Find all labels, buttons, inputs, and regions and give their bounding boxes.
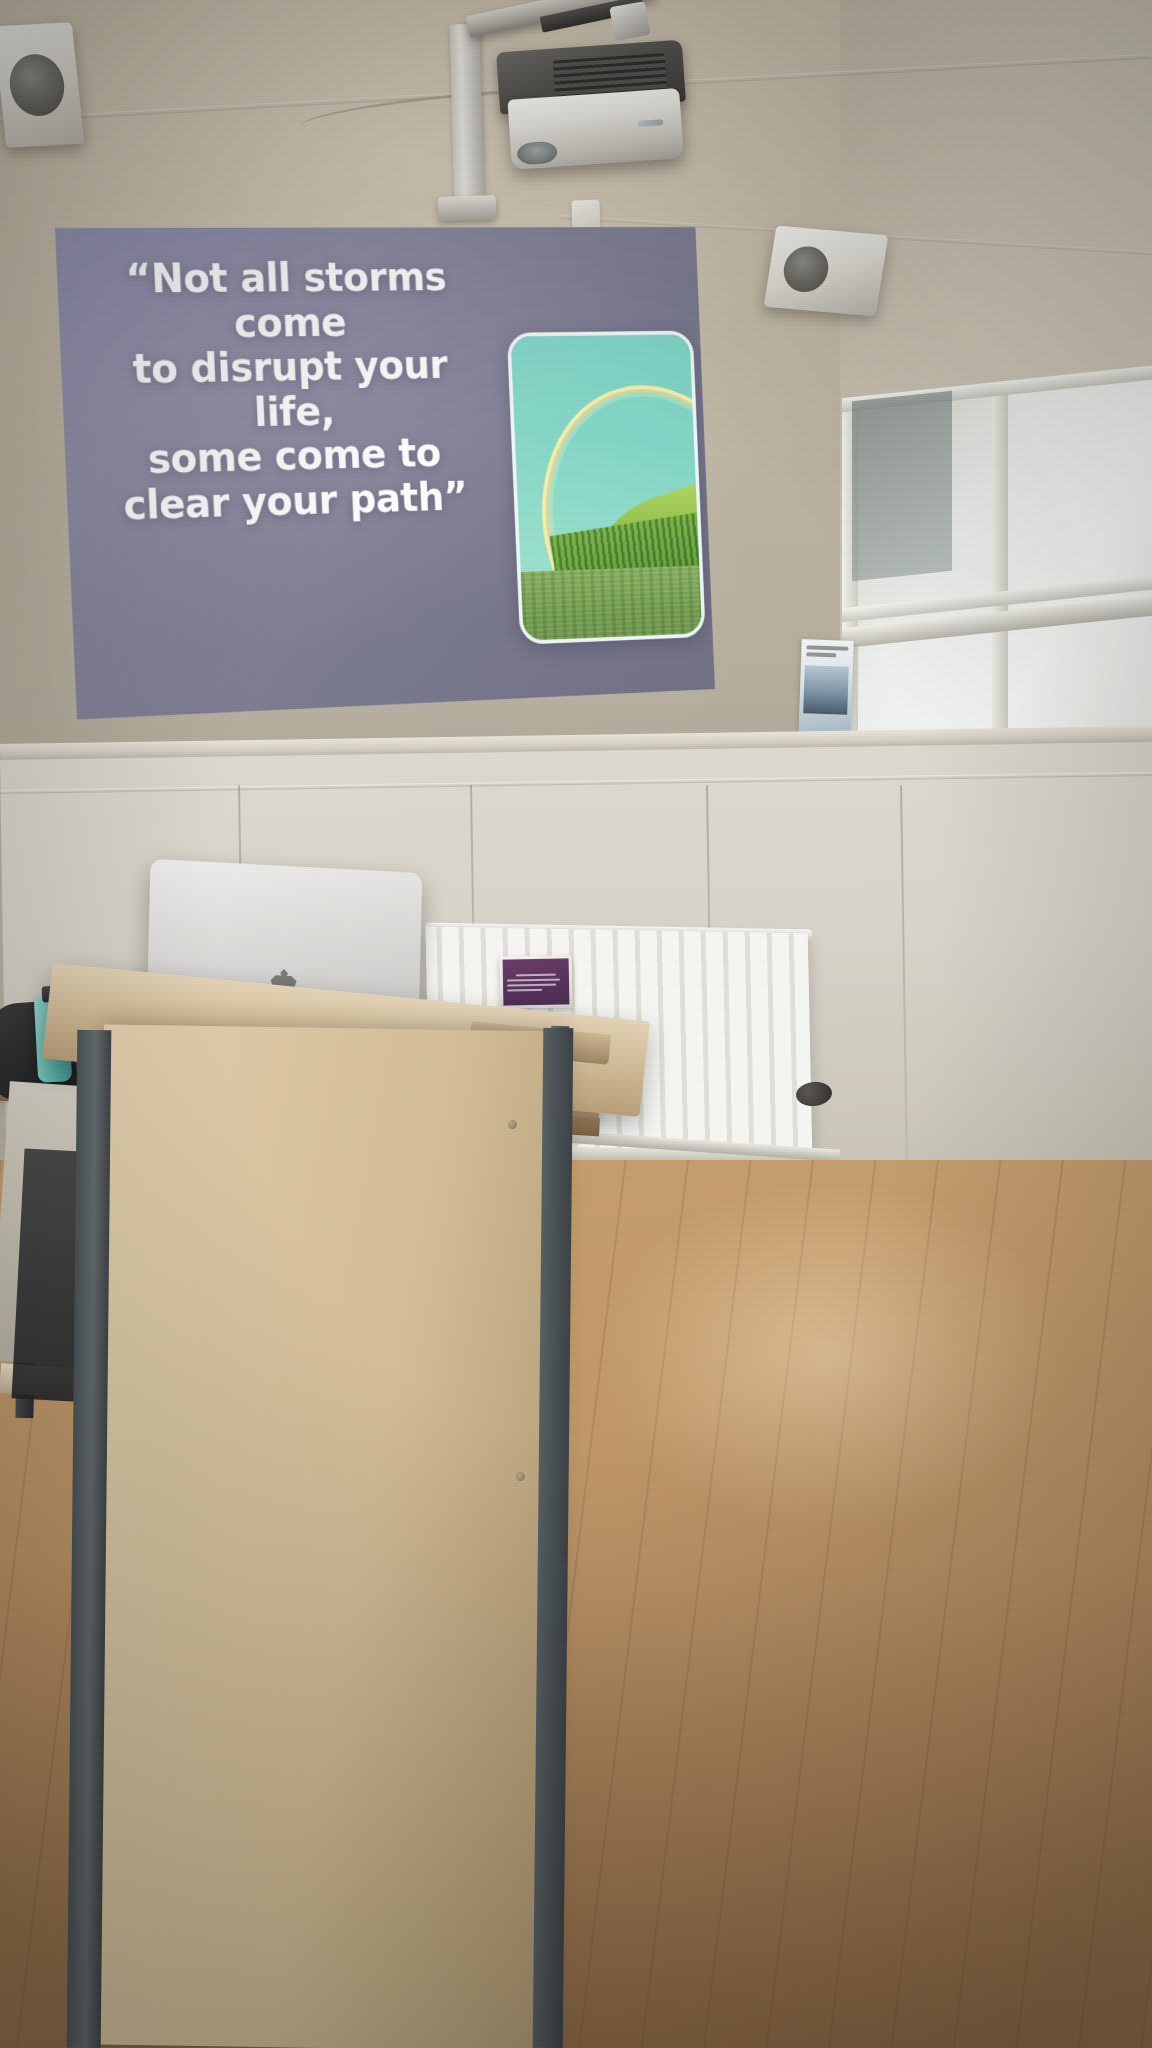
room-photo-scene: “Not all storms come to disrupt your lif… (0, 0, 1152, 2048)
window-glass-dark (852, 391, 952, 582)
wall-speaker-left (0, 22, 84, 147)
poster-image (803, 665, 849, 715)
quote-line-1: “Not all storms come (84, 256, 487, 349)
notice-card (503, 958, 570, 1005)
projector-ceiling-plate (609, 1, 650, 41)
lectern-screw (508, 1120, 517, 1129)
speaker-grille-icon (7, 53, 67, 117)
presentation-slide: “Not all storms come to disrupt your lif… (55, 227, 715, 719)
wall-poster (798, 639, 853, 741)
wooden-lectern (88, 1024, 568, 2048)
projector-housing-bottom (507, 88, 683, 170)
framed-notice (500, 955, 573, 1008)
projector-bracket-arm (450, 24, 485, 213)
quote-line-2: to disrupt your life, (88, 344, 491, 440)
ceiling-projector (496, 40, 690, 173)
speaker-grille-icon (780, 245, 831, 294)
quote-line-4: clear your path” (94, 475, 494, 531)
slide-photo-rainbow-forest (507, 331, 706, 645)
projection-screen-area: “Not all storms come to disrupt your lif… (55, 227, 715, 719)
slide-quote: “Not all storms come to disrupt your lif… (84, 256, 495, 530)
projector-lens-icon (516, 141, 557, 166)
lectern-screw (516, 1472, 525, 1481)
projector-indicator-icon (637, 119, 663, 127)
projector-bracket-foot (438, 195, 497, 221)
wall-speaker-right (764, 226, 889, 317)
